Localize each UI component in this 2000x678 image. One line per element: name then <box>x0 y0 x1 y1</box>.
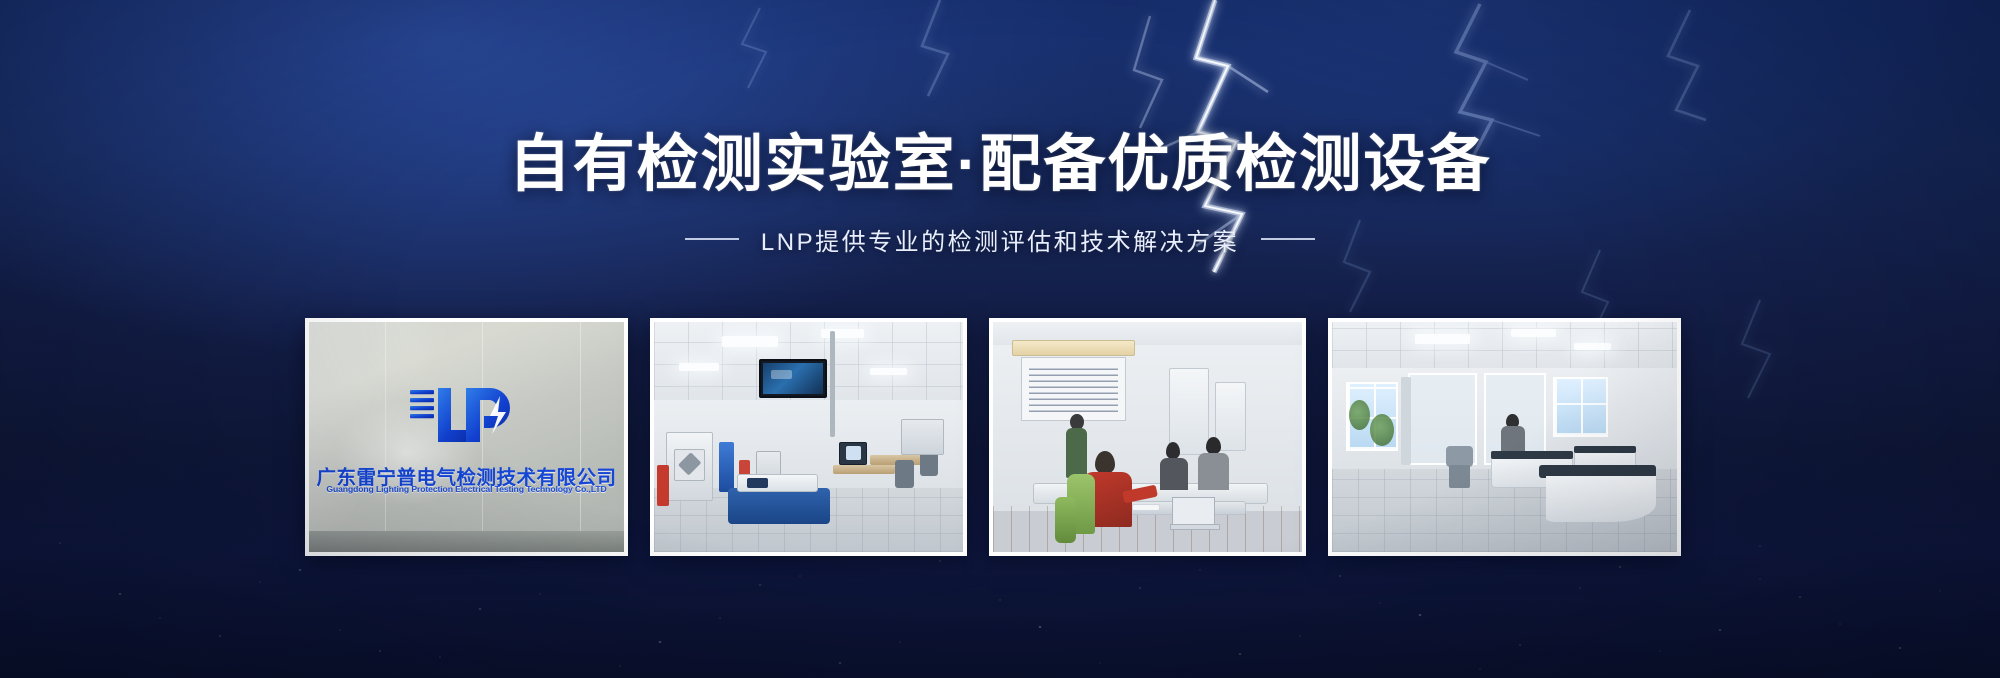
photo-company-signage-wall[interactable]: 广东雷宁普电气检测技术有限公司 Guangdong Lighting Prote… <box>305 318 628 556</box>
rule-right-icon <box>1261 238 1315 240</box>
rule-left-icon <box>685 238 739 240</box>
hero-text-block: 自有检测实验室·配备优质检测设备 LNP提供专业的检测评估和技术解决方案 <box>0 132 2000 257</box>
company-name-en: Guangdong Lighting Protection Electrical… <box>326 484 606 494</box>
photo-office-reception-room[interactable] <box>1328 318 1681 556</box>
photo-meeting-presentation-room[interactable] <box>989 318 1306 556</box>
lnp-logo-icon <box>408 382 526 453</box>
photo-gallery: 广东雷宁普电气检测技术有限公司 Guangdong Lighting Prote… <box>305 318 1683 556</box>
page-subtitle-row: LNP提供专业的检测评估和技术解决方案 <box>0 222 2000 257</box>
page-title: 自有检测实验室·配备优质检测设备 <box>0 132 2000 198</box>
hero-banner: 自有检测实验室·配备优质检测设备 LNP提供专业的检测评估和技术解决方案 <box>0 0 2000 678</box>
photo-testing-laboratory-room[interactable] <box>650 318 967 556</box>
page-subtitle: LNP提供专业的检测评估和技术解决方案 <box>761 222 1239 257</box>
